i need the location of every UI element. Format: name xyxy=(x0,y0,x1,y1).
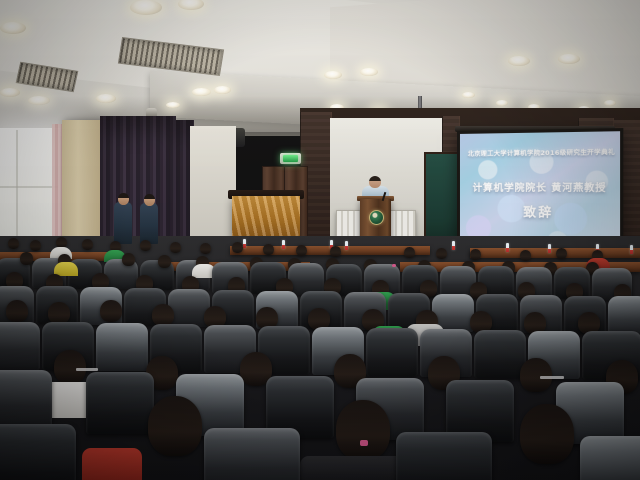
audience-shoulders xyxy=(82,448,142,480)
white-wall-section-left xyxy=(190,126,236,244)
water-bottle xyxy=(548,244,551,253)
standing-person xyxy=(140,203,158,244)
hair-tie xyxy=(360,440,368,446)
university-emblem xyxy=(369,210,384,225)
audience-head xyxy=(54,350,86,384)
recessed-downlight xyxy=(0,88,20,97)
audience-head xyxy=(48,302,70,324)
audience-head xyxy=(82,239,93,250)
audience-head xyxy=(330,246,341,257)
auditorium-seat xyxy=(0,370,52,432)
auditorium-scene: 北京理工大学计算机学院2016级研究生开学典礼 计算机学院院长 黄河燕教授 致辞… xyxy=(0,0,640,480)
water-bottle xyxy=(282,240,285,249)
audience-head xyxy=(30,240,41,251)
recessed-downlight xyxy=(496,100,508,106)
audience-head xyxy=(404,247,415,258)
exit-sign xyxy=(280,153,301,164)
auditorium-seat xyxy=(396,432,492,480)
speaker-head xyxy=(369,176,381,188)
audience-head xyxy=(232,242,243,253)
recessed-downlight xyxy=(166,102,180,108)
audience-head xyxy=(520,358,552,392)
auditorium-seat xyxy=(0,322,40,370)
water-bottle xyxy=(630,245,633,254)
row-desk xyxy=(470,248,640,258)
recessed-downlight xyxy=(558,54,580,64)
audience-head xyxy=(148,396,202,456)
audience-head xyxy=(520,250,531,261)
audience-head xyxy=(520,404,574,464)
recessed-downlight xyxy=(96,94,116,103)
eyeglasses xyxy=(76,368,98,371)
auditorium-seat xyxy=(86,372,154,434)
recessed-downlight xyxy=(462,92,475,98)
window-mullion xyxy=(0,186,58,188)
hair-tie xyxy=(392,264,396,267)
audience-head xyxy=(200,243,211,254)
audience-head xyxy=(296,245,307,256)
slide-speaker-line: 计算机学院院长 黄河燕教授 xyxy=(473,179,607,194)
recessed-downlight xyxy=(28,96,50,105)
audience-head xyxy=(152,304,174,326)
auditorium-seat xyxy=(96,323,148,371)
standing-person xyxy=(114,202,132,244)
audience-head xyxy=(336,400,390,460)
standing-person-head xyxy=(144,194,155,206)
recessed-downlight xyxy=(360,68,378,76)
audience-head xyxy=(140,240,151,251)
auditorium-seat xyxy=(0,424,76,480)
audience-head xyxy=(436,248,447,259)
recessed-downlight xyxy=(324,71,342,79)
water-bottle xyxy=(506,243,509,252)
auditorium-seat xyxy=(204,428,300,480)
audience-head xyxy=(6,300,28,322)
slide-subject-line: 致辞 xyxy=(523,201,553,221)
recessed-downlight xyxy=(604,100,616,106)
recessed-downlight xyxy=(130,0,162,15)
audience-head xyxy=(170,242,181,253)
audience-head xyxy=(20,252,33,265)
eyeglasses xyxy=(540,376,564,379)
water-bottle xyxy=(243,239,246,248)
water-bottle xyxy=(345,241,348,250)
purple-stage-curtain xyxy=(100,116,176,256)
slide-title: 北京理工大学计算机学院2016级研究生开学典礼 xyxy=(468,147,612,158)
recessed-downlight xyxy=(508,56,530,66)
auditorium-seat xyxy=(580,436,640,480)
audience-head xyxy=(8,238,19,249)
auditorium-seat xyxy=(608,296,640,334)
exit-sign-glow xyxy=(283,155,298,162)
audience-head xyxy=(470,249,481,260)
audience-head xyxy=(263,244,274,255)
recessed-downlight xyxy=(214,86,231,94)
standing-person-head xyxy=(118,193,129,205)
audience-head xyxy=(122,253,135,266)
auditorium-seat xyxy=(366,328,418,376)
audience-head xyxy=(158,255,171,268)
water-bottle xyxy=(452,241,455,250)
recessed-downlight xyxy=(192,88,211,96)
audience-head xyxy=(556,248,567,259)
auditorium-seat xyxy=(474,330,526,378)
recessed-downlight xyxy=(0,22,26,34)
audience-head xyxy=(100,300,122,322)
window-mullion xyxy=(16,130,18,250)
